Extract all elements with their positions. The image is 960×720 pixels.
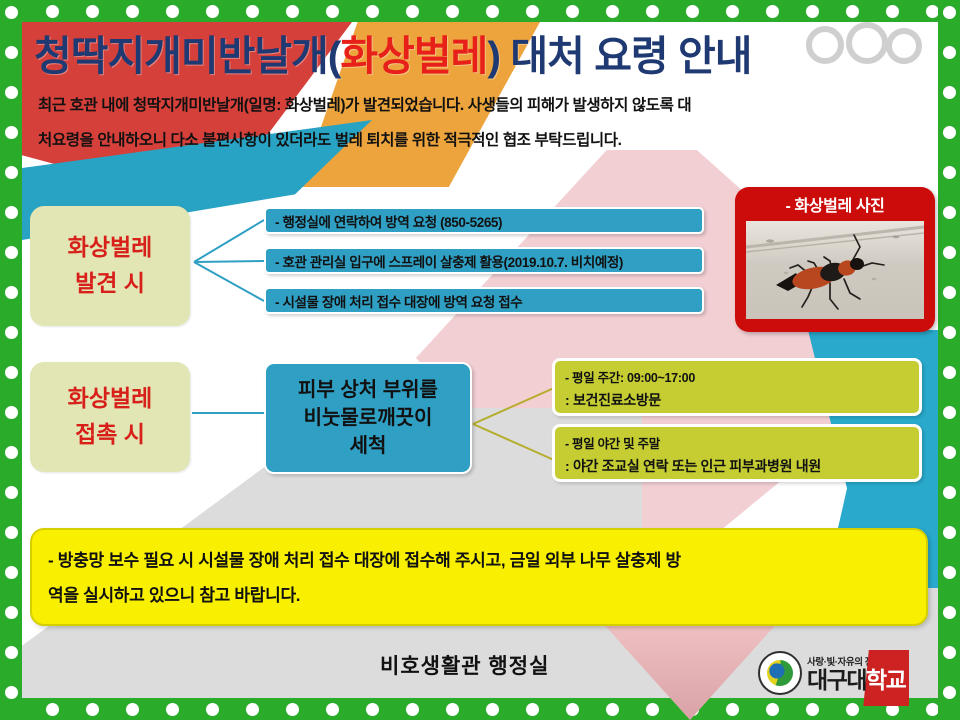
decor-dot [846,703,859,716]
hours-daytime-box: - 평일 주간: 09:00~17:00 : 보건진료소방문 [552,358,922,416]
decor-dot [943,6,956,19]
decor-dot [46,703,59,716]
decor-dot [206,5,219,18]
decor-dot [943,526,956,539]
category-discover-line2: 발견 시 [75,266,145,302]
decor-dot [5,646,18,659]
action-bar-text: - 시설물 장애 처리 접수 대장에 방역 요청 접수 [275,291,522,311]
decor-dot [286,5,299,18]
decor-dot [726,5,739,18]
decor-dot [406,5,419,18]
decor-dot [943,166,956,179]
decor-dot [943,406,956,419]
decor-dot [5,46,18,59]
decor-dot [943,86,956,99]
wash-line-3: 세척 [350,432,387,460]
connector-line-contact [190,405,268,421]
decor-dot [646,5,659,18]
decor-dot [566,5,579,18]
decor-dot [5,6,18,19]
university-emblem-icon [758,651,802,695]
decor-dot [943,126,956,139]
hours-daytime-line1: - 평일 주간: 09:00~17:00 [565,368,909,389]
decor-dot [886,5,899,18]
category-box-contact: 화상벌레 접촉 시 [30,362,190,472]
dot-row [0,0,960,22]
decor-dot [5,86,18,99]
decor-dot [5,566,18,579]
decor-dot [943,686,956,699]
decor-dot [86,5,99,18]
university-name: 대구대학교 [807,669,905,692]
footer-office-name: 비호생활관 행정실 [380,650,549,680]
decor-dot [5,246,18,259]
decor-dot [5,526,18,539]
decor-dot [846,5,859,18]
title-part-highlight: 화상벌레 [340,33,487,79]
decor-dot [606,703,619,716]
decor-dot [366,5,379,18]
decor-dot [943,46,956,59]
action-bar-facility-log: - 시설물 장애 처리 접수 대장에 방역 요청 접수 [264,287,704,314]
category-discover-line1: 화상벌레 [68,230,153,266]
decor-dot [326,703,339,716]
dot-row [938,0,960,720]
decor-dot [46,5,59,18]
decor-dot [943,286,956,299]
decor-dot [446,703,459,716]
decor-dot [566,703,579,716]
notice-line-2: 역을 실시하고 있으니 참고 바랍니다. [48,579,910,614]
decor-dot [943,606,956,619]
category-contact-line1: 화상벌레 [68,381,153,417]
decor-dot [5,406,18,419]
decor-dot [5,486,18,499]
photo-card: - 화상벌레 사진 [735,187,935,332]
connector-lines-hours [470,378,556,474]
decor-dot [5,446,18,459]
decor-dot [766,5,779,18]
university-name-part1: 대구대 [807,667,866,693]
university-logo: 사랑·빛·자유의 전당 대구대학교 [758,644,930,702]
university-name-part2: 학교 [866,667,905,693]
decor-dot [5,286,18,299]
decor-dot [943,646,956,659]
hours-night-box: - 평일 야간 및 주말 : 야간 조교실 연락 또는 인근 피부과병원 내원 [552,424,922,482]
decor-dot [943,566,956,579]
decor-dot [446,5,459,18]
decor-dot [486,703,499,716]
subtitle-line-1: 최근 호관 내에 청딱지개미반날개(일명: 화상벌레)가 발견되었습니다. 사생… [38,93,928,115]
decor-dot [806,703,819,716]
decor-dot [126,5,139,18]
notice-box: - 방충망 보수 필요 시 시설물 장애 처리 접수 대장에 접수해 주시고, … [30,528,928,626]
wash-line-1: 피부 상처 부위를 [298,376,438,404]
decor-dot [5,686,18,699]
frame-border-top [0,0,960,22]
connector-lines-discover [190,200,270,330]
decor-dot [286,703,299,716]
action-bar-text: - 호관 관리실 입구에 스프레이 살충제 활용(2019.10.7. 비치예정… [275,251,623,271]
decor-dot [726,703,739,716]
decor-dot [606,5,619,18]
action-bar-spray: - 호관 관리실 입구에 스프레이 살충제 활용(2019.10.7. 비치예정… [264,247,704,274]
decor-dot [5,366,18,379]
category-contact-line2: 접촉 시 [75,417,145,453]
decor-dot [5,166,18,179]
decor-dot [5,326,18,339]
decor-dot [86,703,99,716]
frame-border-right [938,0,960,720]
decor-dot [943,206,956,219]
decor-dot [246,5,259,18]
decor-dot [406,703,419,716]
decor-dot [943,486,956,499]
poster-canvas: 청딱지개미반날개(화상벌레) 대처 요령 안내 최근 호관 내에 청딱지개미반날… [0,0,960,720]
decor-dot [326,5,339,18]
action-bar-text: - 행정실에 연락하여 방역 요청 (850-5265) [275,211,502,231]
decor-dot [366,703,379,716]
beetle-illustration [746,221,924,319]
beetle-photo [746,221,924,319]
decor-dot [166,5,179,18]
decor-dot [686,5,699,18]
wash-instruction-box: 피부 상처 부위를 비눗물로깨끗이 세척 [264,362,472,474]
photo-caption: - 화상벌레 사진 [735,192,935,216]
decor-dot [206,703,219,716]
decor-dot [526,703,539,716]
decor-dot [766,703,779,716]
decor-dot [246,703,259,716]
title-part-after: ) 대처 요령 안내 [487,33,751,79]
decor-dot [126,703,139,716]
category-box-discover: 화상벌레 발견 시 [30,206,190,326]
hours-night-line2: : 야간 조교실 연락 또는 인근 피부과병원 내원 [565,455,909,478]
title-part-before: 청딱지개미반날개( [34,33,340,79]
frame-border-left [0,0,22,720]
notice-line-1: - 방충망 보수 필요 시 시설물 장애 처리 접수 대장에 접수해 주시고, … [48,544,910,579]
decor-dot [806,5,819,18]
hours-daytime-line2: : 보건진료소방문 [565,389,909,412]
decor-dot [943,366,956,379]
page-title: 청딱지개미반날개(화상벌레) 대처 요령 안내 [34,22,914,82]
decor-dot [943,246,956,259]
decor-dot [5,606,18,619]
decor-dot [943,326,956,339]
hours-night-line1: - 평일 야간 및 주말 [565,434,909,455]
wash-line-2: 비눗물로깨끗이 [304,404,433,432]
decor-dot [646,703,659,716]
action-bar-call-office: - 행정실에 연락하여 방역 요청 (850-5265) [264,207,704,234]
decor-dot [526,5,539,18]
decor-dot [5,126,18,139]
decor-dot [486,5,499,18]
decor-dot [166,703,179,716]
decor-dot [943,446,956,459]
university-logo-text: 사랑·빛·자유의 전당 대구대학교 [807,654,905,692]
subtitle-line-2: 처요령을 안내하오니 다소 불편사항이 있더라도 벌레 퇴치를 위한 적극적인 … [38,128,928,150]
decor-dot [5,206,18,219]
dot-row [0,0,22,720]
